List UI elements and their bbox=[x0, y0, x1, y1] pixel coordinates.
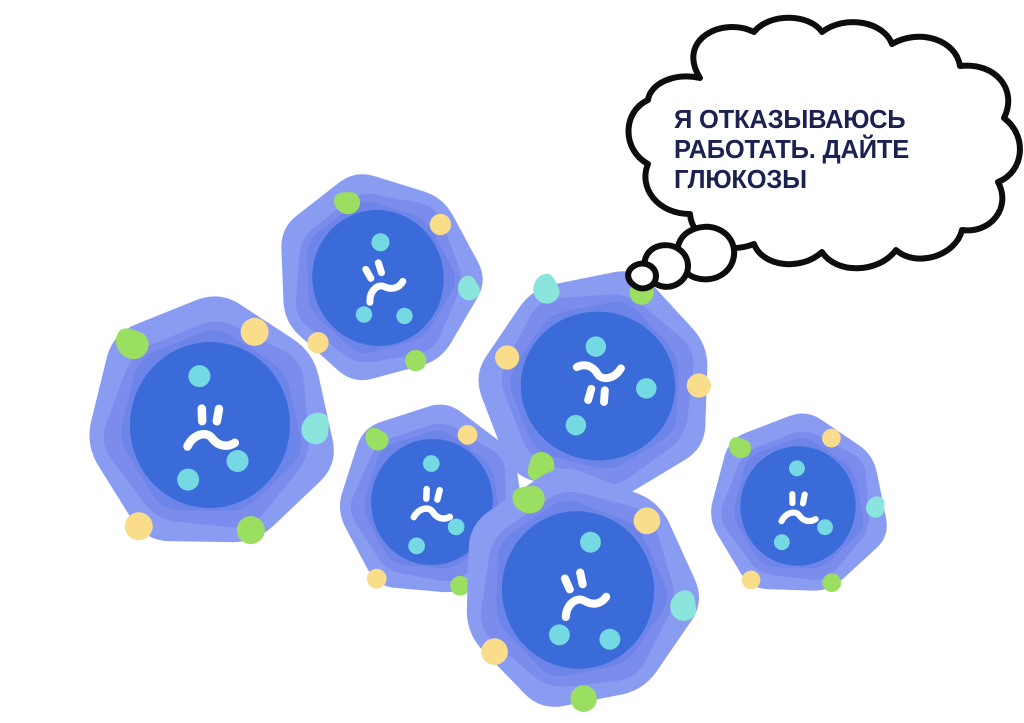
face-eye-left bbox=[789, 491, 795, 506]
thought-bubble: Я ОТКАЗЫВАЮСЬ РАБОТАТЬ. ДАЙТЕ ГЛЮКОЗЫ bbox=[604, 18, 1024, 313]
face-eye-left bbox=[197, 404, 206, 425]
sad-cell-bottom bbox=[417, 429, 739, 723]
thought-bubble-text: Я ОТКАЗЫВАЮСЬ РАБОТАТЬ. ДАЙТЕ ГЛЮКОЗЫ bbox=[674, 106, 954, 195]
face-eye-left bbox=[600, 386, 609, 406]
thought-bubble-tail-small bbox=[628, 264, 656, 289]
illustration-canvas: Я ОТКАЗЫВАЮСЬ РАБОТАТЬ. ДАЙТЕ ГЛЮКОЗЫ bbox=[0, 0, 1024, 723]
